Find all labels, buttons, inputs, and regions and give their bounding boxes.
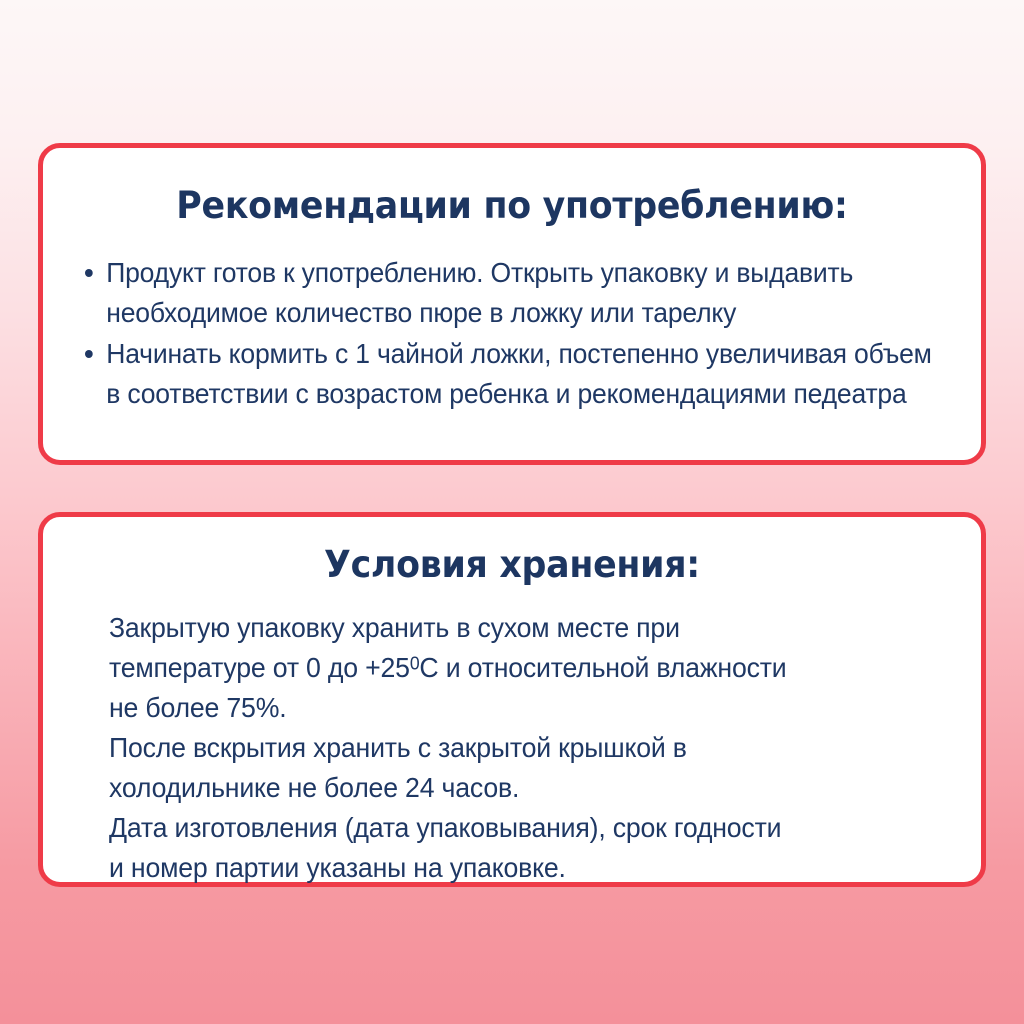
temperature-unit: C bbox=[419, 652, 438, 683]
storage-line: и номер партии указаны на упаковке. bbox=[109, 848, 926, 888]
bullet-dot-icon bbox=[85, 350, 93, 358]
list-item: Продукт готов к употреблению. Открыть уп… bbox=[85, 253, 936, 333]
storage-line: холодильнике не более 24 часов. bbox=[109, 768, 926, 808]
storage-line: не более 75%. bbox=[109, 688, 926, 728]
storage-text-block: Закрытую упаковку хранить в сухом месте … bbox=[43, 608, 981, 888]
product-label-page: Рекомендации по употреблению: Продукт го… bbox=[0, 0, 1024, 1024]
bullet-dot-icon bbox=[85, 269, 93, 277]
storage-line: Закрытую упаковку хранить в сухом месте … bbox=[109, 608, 926, 648]
storage-line: После вскрытия хранить с закрытой крышко… bbox=[109, 728, 926, 768]
storage-conditions-card: Условия хранения: Закрытую упаковку хран… bbox=[38, 512, 986, 887]
temperature-prefix: температуре от 0 до +25 bbox=[109, 652, 410, 683]
usage-bullet-text: Продукт готов к употреблению. Открыть уп… bbox=[106, 257, 853, 328]
storage-line-temperature: температуре от 0 до +250C и относительно… bbox=[109, 648, 926, 688]
list-item: Начинать кормить с 1 чайной ложки, посте… bbox=[85, 334, 936, 414]
storage-line: Дата изготовления (дата упаковывания), с… bbox=[109, 808, 926, 848]
temperature-suffix: и относительной влажности bbox=[438, 652, 786, 683]
degree-superscript: 0 bbox=[410, 653, 420, 673]
storage-card-title: Условия хранения: bbox=[71, 545, 953, 586]
usage-bullet-list: Продукт готов к употреблению. Открыть уп… bbox=[43, 253, 981, 414]
usage-recommendations-card: Рекомендации по употреблению: Продукт го… bbox=[38, 143, 986, 465]
usage-bullet-text: Начинать кормить с 1 чайной ложки, посте… bbox=[106, 338, 931, 409]
usage-card-title: Рекомендации по употреблению: bbox=[71, 186, 953, 227]
